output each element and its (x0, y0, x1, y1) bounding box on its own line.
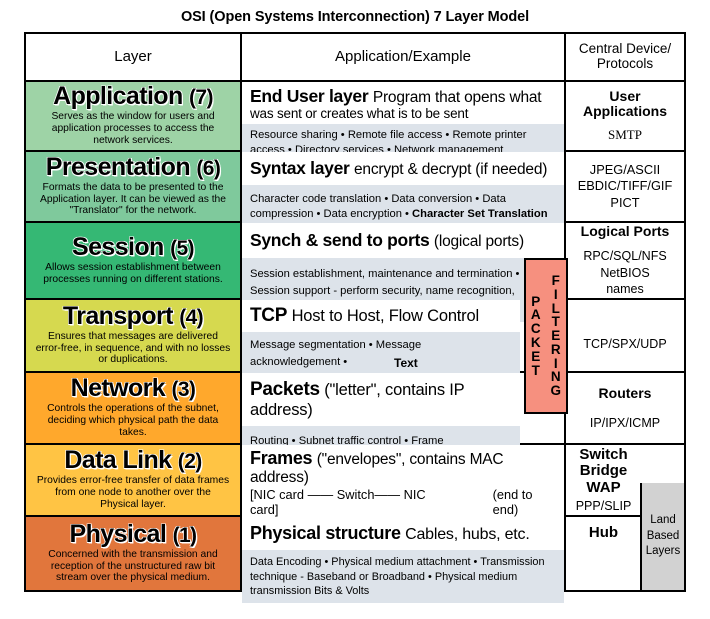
header-cell-device: Central Device/ Protocols (566, 34, 684, 80)
layer-row-network: Network (3) Controls the operations of t… (26, 373, 684, 445)
device-title-datalink: SwitchBridgeWAP (579, 447, 627, 497)
layer-title-text: Transport (63, 302, 173, 330)
device-cell-session: Logical Ports RPC/SQL/NFSNetBIOSnames (566, 223, 684, 298)
device-protocol-transport: TCP/SPX/UDP (583, 337, 666, 351)
device-title-physical: Hub (589, 525, 618, 542)
packet-filtering-word-packet: PACKET (531, 295, 541, 378)
layer-name-cell-application: Application (7) Serves as the window for… (26, 82, 242, 150)
example-heading-light: Cables, hubs, etc. (405, 526, 529, 543)
layer-description-physical: Concerned with the transmission and rece… (31, 549, 235, 585)
layer-title-text: Presentation (46, 153, 190, 181)
layer-row-presentation: Presentation (6) Formats the data to be … (26, 152, 684, 223)
header-device-label-line1: Central Device/ (579, 42, 671, 57)
land-based-layers-label: LandBasedLayers (646, 513, 681, 560)
layer-title-network: Network (3) (71, 376, 196, 401)
device-title-session: Logical Ports (581, 224, 670, 239)
packet-filtering-strip: PACKET FILTERING (524, 258, 568, 414)
layer-name-cell-physical: Physical (1) Concerned with the transmis… (26, 517, 242, 590)
layer-title-text: Physical (70, 520, 167, 548)
layer-description-network: Controls the operations of the subnet, d… (31, 403, 235, 439)
layer-number: (5) (170, 237, 194, 260)
layer-example-cell-application: End User layer Program that opens what w… (242, 82, 566, 150)
layer-title-datalink: Data Link (2) (64, 448, 201, 473)
example-heading-strong: Syntax layer (250, 158, 350, 178)
layer-number: (2) (178, 450, 202, 473)
example-heading-light: encrypt & decrypt (if needed) (354, 161, 547, 178)
page-title: OSI (Open Systems Interconnection) 7 Lay… (0, 0, 710, 32)
layer-description-application: Serves as the window for users and appli… (31, 111, 235, 147)
layer-example-cell-presentation: Syntax layer encrypt & decrypt (if neede… (242, 152, 566, 221)
header-application-label: Application/Example (242, 34, 564, 80)
layer-title-text: Session (72, 233, 164, 261)
header-cell-application: Application/Example (242, 34, 566, 80)
example-heading-strong: TCP (250, 305, 287, 326)
layer-title-physical: Physical (1) (70, 522, 197, 547)
example-heading-presentation: Syntax layer encrypt & decrypt (if neede… (242, 152, 564, 185)
header-device-label-line2: Protocols (597, 57, 653, 72)
layer-example-cell-session: Synch & send to ports (logical ports) Se… (242, 223, 566, 298)
device-cell-application: UserApplications SMTP (566, 82, 684, 150)
device-protocol-application: SMTP (608, 128, 642, 143)
example-heading-strong: Packets (250, 379, 320, 400)
device-protocol-datalink: PPP/SLIP (576, 499, 632, 513)
layer-row-transport: Transport (4) Ensures that messages are … (26, 300, 684, 373)
example-heading-application: End User layer Program that opens what w… (242, 82, 564, 124)
layer-title-application: Application (7) (53, 84, 213, 109)
device-protocol-presentation: JPEG/ASCIIEBDIC/TIFF/GIFPICT (578, 162, 673, 212)
layer-description-datalink: Provides error-free transfer of data fra… (31, 475, 235, 511)
layer-number: (3) (171, 378, 195, 401)
layer-title-transport: Transport (4) (63, 304, 203, 329)
layer-example-cell-transport: TCP Host to Host, Flow Control Message s… (242, 300, 566, 371)
layer-row-physical: Physical (1) Concerned with the transmis… (26, 517, 684, 590)
layer-name-cell-datalink: Data Link (2) Provides error-free transf… (26, 445, 242, 515)
example-heading-strong: Synch & send to ports (250, 230, 429, 250)
layer-row-session: Session (5) Allows session establishment… (26, 223, 684, 300)
device-title-application: UserApplications (583, 89, 667, 120)
example-heading-strong: End User layer (250, 86, 368, 106)
packet-filtering-word-filtering: FILTERING (551, 274, 562, 398)
example-heading-strong: Physical structure (250, 523, 401, 543)
device-cell-transport: TCP/SPX/UDP (566, 300, 684, 371)
layer-title-text: Data Link (64, 446, 171, 474)
example-heading-physical: Physical structure Cables, hubs, etc. (242, 517, 564, 550)
layer-description-presentation: Formats the data to be presented to the … (31, 182, 235, 218)
example-heading-light: (logical ports) (434, 233, 524, 250)
layer-number: (6) (196, 157, 220, 180)
device-protocol-network: IP/IPX/ICMP (590, 416, 660, 430)
layer-example-cell-network: Packets ("letter", contains IP address) … (242, 373, 566, 443)
example-heading-light: Program that opens what (373, 89, 542, 106)
layer-row-datalink: Data Link (2) Provides error-free transf… (26, 445, 684, 517)
device-protocol-session: RPC/SQL/NFSNetBIOSnames (583, 248, 666, 297)
example-heading-transport: TCP Host to Host, Flow Control (242, 300, 520, 332)
bullets-line-1: Message segmentation • Message acknowled… (250, 337, 512, 372)
table-header-row: Layer Application/Example Central Device… (26, 34, 684, 82)
device-cell-presentation: JPEG/ASCIIEBDIC/TIFF/GIFPICT (566, 152, 684, 221)
example-subline-left: [NIC card —— Switch—— NIC card] (250, 487, 441, 517)
osi-layer-table: Layer Application/Example Central Device… (24, 32, 686, 592)
layer-number: (4) (179, 306, 203, 329)
layer-description-session: Allows session establishment between pro… (31, 262, 235, 286)
layer-title-session: Session (5) (72, 235, 194, 260)
layer-name-cell-network: Network (3) Controls the operations of t… (26, 373, 242, 443)
example-heading-session: Synch & send to ports (logical ports) (242, 223, 564, 258)
land-based-layers-column: LandBasedLayers (640, 483, 684, 590)
layer-example-cell-datalink: Frames ("envelopes", contains MAC addres… (242, 445, 566, 515)
example-bullets-physical: Data Encoding • Physical medium attachme… (242, 550, 564, 603)
layer-title-text: Application (53, 82, 183, 110)
example-heading-light: Host to Host, Flow Control (292, 307, 479, 325)
header-cell-layer: Layer (26, 34, 242, 80)
example-subline-right: (end to end) (493, 487, 556, 517)
layer-number: (1) (173, 524, 197, 547)
layer-number: (7) (189, 86, 213, 109)
layer-name-cell-session: Session (5) Allows session establishment… (26, 223, 242, 298)
layer-title-text: Network (71, 374, 165, 402)
layer-example-cell-physical: Physical structure Cables, hubs, etc. Da… (242, 517, 566, 590)
example-heading-network: Packets ("letter", contains IP address) (242, 373, 520, 426)
header-layer-label: Layer (26, 34, 240, 80)
layer-name-cell-transport: Transport (4) Ensures that messages are … (26, 300, 242, 371)
example-bullets-presentation: Character code translation • Data conver… (242, 185, 564, 227)
overlap-text-artifact: Text (394, 354, 418, 373)
layer-name-cell-presentation: Presentation (6) Formats the data to be … (26, 152, 242, 221)
example-heading-datalink: Frames ("envelopes", contains MAC addres… (242, 445, 564, 519)
bullets-bold: Character Set Translation (412, 208, 548, 220)
example-heading-strong: Frames (250, 448, 312, 468)
device-title-network: Routers (599, 386, 652, 401)
example-heading-sub: was sent or creates what is to be sent (250, 106, 556, 121)
layer-row-application: Application (7) Serves as the window for… (26, 82, 684, 152)
device-cell-network: Routers IP/IPX/ICMP (566, 373, 684, 443)
layer-description-transport: Ensures that messages are delivered erro… (31, 331, 235, 367)
layer-title-presentation: Presentation (6) (46, 155, 220, 180)
